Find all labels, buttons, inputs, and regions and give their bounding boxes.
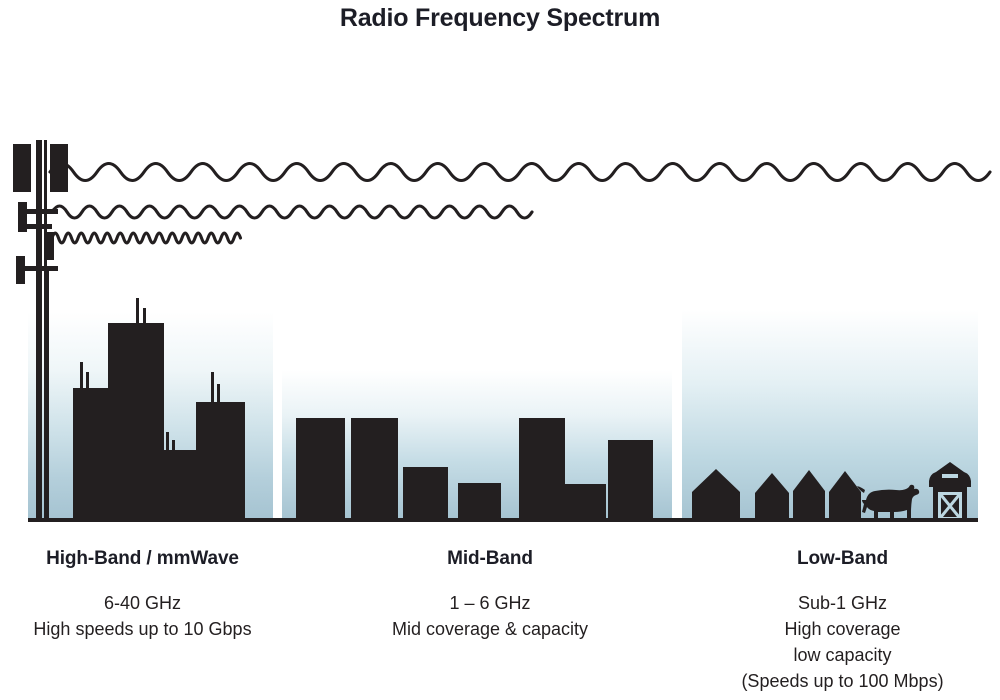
building (608, 440, 653, 520)
building (108, 323, 164, 520)
caption-line-coverage-mid-band: Mid coverage & capacity (345, 616, 635, 642)
tower-crossbar-4 (22, 266, 58, 271)
caption-line-frequency-high-band: 6-40 GHz (0, 590, 285, 616)
building-spire (211, 372, 214, 404)
caption-line-frequency-mid-band: 1 – 6 GHz (345, 590, 635, 616)
building-spire (136, 298, 139, 325)
caption-heading-low-band: Low-Band (690, 548, 995, 570)
building (196, 402, 245, 520)
caption-heading-high-band: High-Band / mmWave (0, 548, 285, 570)
caption-low-band: Low-Band Sub-1 GHz High coverage low cap… (690, 548, 995, 694)
building (519, 418, 565, 520)
building (458, 483, 501, 520)
building (296, 418, 345, 520)
mid-band-wave (52, 206, 532, 218)
building (351, 418, 398, 520)
tower-crossbar-2b (24, 224, 52, 229)
caption-line-speed-low-band: (Speeds up to 100 Mbps) (690, 668, 995, 694)
caption-high-band: High-Band / mmWave 6-40 GHz High speeds … (0, 548, 285, 642)
antenna-panel-1b (50, 144, 68, 192)
caption-mid-band: Mid-Band 1 – 6 GHz Mid coverage & capaci… (345, 548, 635, 642)
caption-heading-mid-band: Mid-Band (345, 548, 635, 570)
building-spire (80, 362, 83, 390)
barn-hayloft-slot (942, 474, 958, 478)
tower-mast (36, 140, 42, 522)
tower-crossbar-2a (24, 209, 58, 214)
tower-mast-lower-leg (44, 270, 49, 522)
antenna-panel-3 (45, 232, 54, 260)
building (161, 450, 199, 520)
caption-line-coverage-low-band: High coverage (690, 616, 995, 642)
high-band-wave (52, 233, 241, 243)
ground-line (28, 518, 978, 522)
caption-line-speed-high-band: High speeds up to 10 Gbps (0, 616, 285, 642)
building (565, 484, 606, 520)
building (403, 467, 448, 520)
caption-line-frequency-low-band: Sub-1 GHz (690, 590, 995, 616)
building-spire (166, 432, 169, 452)
radio-waves (50, 164, 990, 244)
infographic-root: Radio Frequency Spectrum (0, 0, 1000, 700)
low-band-wave (50, 164, 990, 181)
antenna-panel-1a (13, 144, 31, 192)
caption-line-capacity-low-band: low capacity (690, 642, 995, 668)
